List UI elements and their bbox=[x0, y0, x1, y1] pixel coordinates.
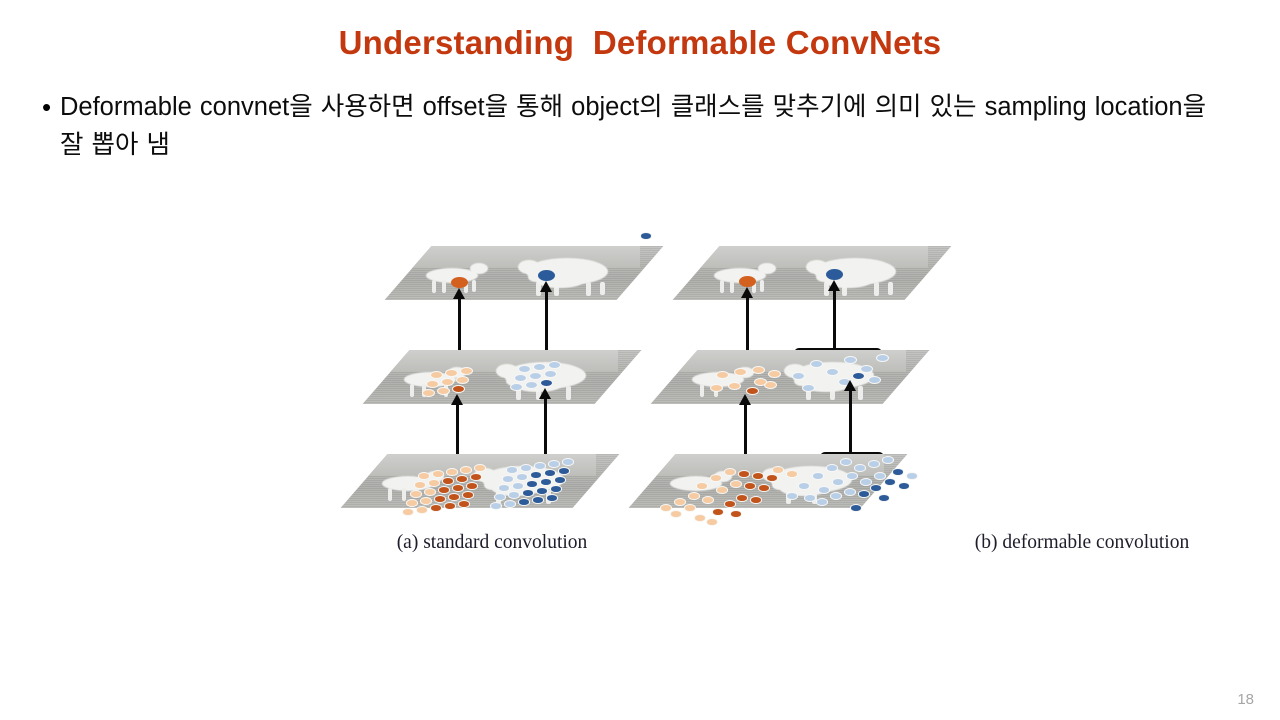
panel-a-arrowhead-right-upper bbox=[540, 281, 552, 292]
panel-b-arrowhead-right-lower bbox=[844, 380, 856, 391]
caption-deformable-convolution: (b) deformable convolution bbox=[932, 532, 1232, 554]
bullet-marker-icon: • bbox=[42, 88, 60, 126]
panel-b-arrowhead-left-upper bbox=[741, 287, 753, 298]
page-number: 18 bbox=[1237, 691, 1254, 708]
panel-b-output-layer bbox=[673, 246, 952, 300]
panel-b-output-point-blue bbox=[826, 269, 843, 280]
panel-a-output-point-blue bbox=[538, 270, 555, 281]
panel-a-output-layer bbox=[385, 246, 664, 300]
panel-a-output-point-orange bbox=[451, 277, 468, 288]
panel-a-input-layer bbox=[341, 454, 620, 508]
panel-deformable-convolution: (b) deformable convolution bbox=[640, 232, 940, 532]
deformable-convolution-figure: (a) standard convolution bbox=[352, 232, 952, 568]
bullet-item-text: Deformable convnet을 사용하면 offset을 통해 obje… bbox=[60, 88, 1222, 164]
panel-b-arrowhead-left-lower bbox=[739, 394, 751, 405]
page-title: Understanding Deformable ConvNets bbox=[0, 24, 1280, 62]
panel-a-arrow-mid-to-top-right bbox=[545, 291, 548, 359]
panel-a-arrowhead-left-lower bbox=[451, 394, 463, 405]
panel-b-arrow-mid-to-top-right bbox=[833, 290, 836, 352]
panel-a-middle-layer bbox=[363, 350, 642, 404]
panel-a-arrow-bottom-to-mid-right bbox=[544, 398, 547, 456]
bullet-list-item: • Deformable convnet을 사용하면 offset을 통해 ob… bbox=[42, 88, 1222, 164]
panel-a-arrowhead-left-upper bbox=[453, 288, 465, 299]
panel-a-arrowhead-right-lower bbox=[539, 388, 551, 399]
caption-standard-convolution: (a) standard convolution bbox=[342, 532, 642, 554]
body-content: • Deformable convnet을 사용하면 offset을 통해 ob… bbox=[42, 88, 1222, 164]
panel-b-arrowhead-right-upper bbox=[828, 280, 840, 291]
panel-b-arrow-bottom-to-mid-right bbox=[849, 390, 852, 452]
panel-b-output-point-orange bbox=[739, 276, 756, 287]
panel-standard-convolution: (a) standard convolution bbox=[352, 232, 652, 532]
